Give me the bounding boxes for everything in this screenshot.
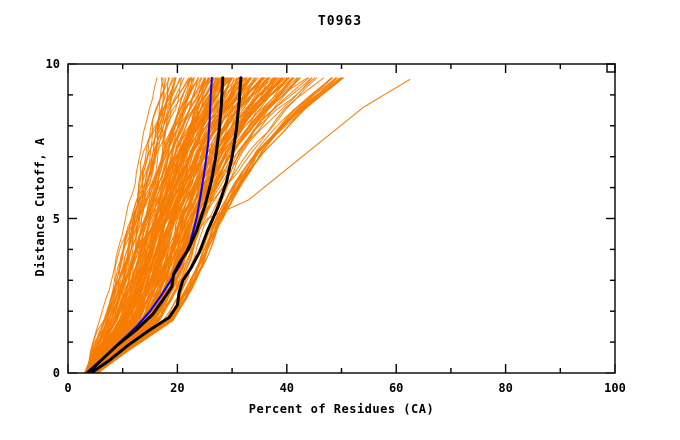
plot-figure: T0963 Distance Cutoff, A Percent of Resi… bbox=[0, 0, 680, 440]
plot-canvas bbox=[0, 0, 680, 440]
corner-notch-artifact bbox=[607, 64, 615, 72]
y-tick-label: 10 bbox=[36, 57, 60, 71]
y-tick-label: 5 bbox=[36, 212, 60, 226]
x-tick-label: 0 bbox=[64, 381, 71, 395]
curve-series-layer bbox=[84, 78, 410, 373]
x-tick-label: 100 bbox=[604, 381, 626, 395]
x-tick-label: 40 bbox=[280, 381, 294, 395]
y-tick-label: 0 bbox=[36, 366, 60, 380]
x-tick-label: 80 bbox=[498, 381, 512, 395]
x-tick-label: 20 bbox=[170, 381, 184, 395]
x-tick-label: 60 bbox=[389, 381, 403, 395]
